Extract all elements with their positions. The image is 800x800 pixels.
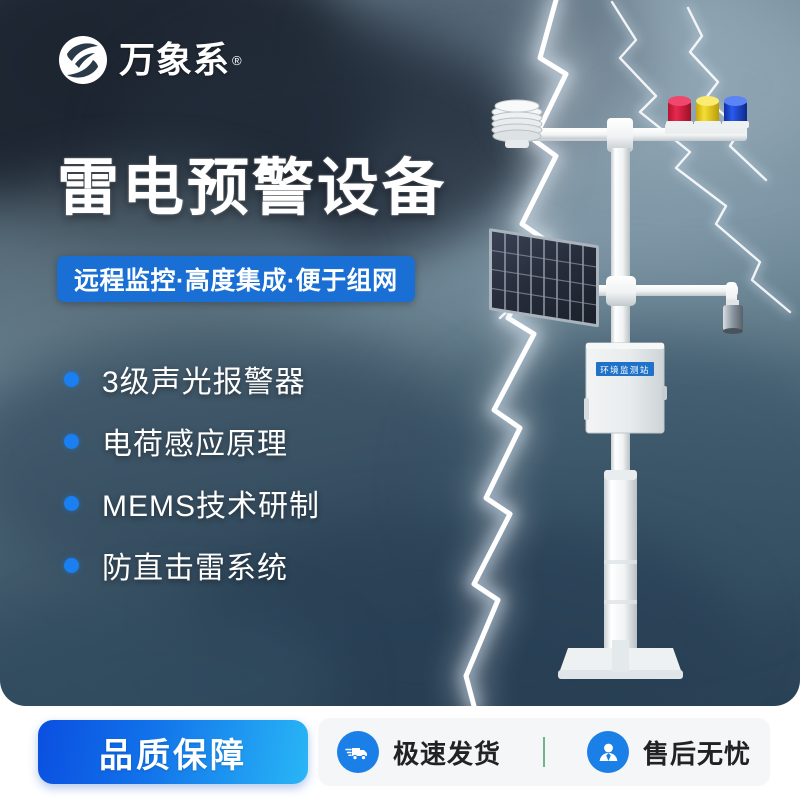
brand-name: 万象系 (119, 42, 230, 78)
storm-cloud (330, 0, 660, 150)
feature-label: MEMS技术研制 (102, 481, 320, 525)
storm-cloud (0, 600, 340, 706)
quality-badge-label: 品质保障 (99, 728, 247, 777)
yellow-alarm-beacon (694, 96, 721, 128)
solar-panel-icon (489, 228, 599, 327)
enclosure-label: 环境监测站 (600, 365, 650, 376)
feature-item: 3级声光报警器 (64, 348, 320, 410)
feature-label: 3级声光报警器 (102, 357, 306, 401)
service-label: 极速发货 (393, 734, 501, 771)
blue-alarm-beacon (722, 96, 749, 128)
bullet-dot-icon (64, 496, 79, 511)
quality-badge: 品质保障 (38, 720, 308, 784)
bullet-dot-icon (64, 434, 79, 449)
alarm-beacon-stack (666, 96, 749, 128)
service-item-shipping: 极速发货 (337, 731, 501, 773)
bottom-trust-bar: 品质保障 极速发货 (0, 706, 800, 800)
service-item-support: 售后无忧 (587, 731, 751, 773)
brand-logo[interactable]: 万象系 ® (57, 34, 242, 86)
subtitle-banner: 远程监控·高度集成·便于组网 (57, 256, 415, 302)
red-alarm-beacon (666, 96, 693, 128)
base-plate (558, 640, 683, 679)
feature-label: 电荷感应原理 (102, 419, 288, 463)
feature-list: 3级声光报警器 电荷感应原理 MEMS技术研制 防直击雷系统 (64, 348, 320, 596)
feature-label: 防直击雷系统 (102, 543, 288, 587)
storm-cloud (520, 0, 800, 170)
controller-enclosure: 环境监测站 (584, 343, 667, 433)
feature-item: 电荷感应原理 (64, 410, 320, 472)
leaf-circle-logo-icon (57, 34, 109, 86)
service-divider (543, 737, 545, 767)
sensor-probe-icon (723, 282, 743, 334)
radiation-shield-icon (492, 100, 542, 148)
promo-page: 环境监测站 (0, 0, 800, 800)
service-list: 极速发货 售后无忧 (318, 718, 770, 786)
registered-mark: ® (232, 53, 242, 68)
service-label: 售后无忧 (643, 734, 751, 771)
page-title: 雷电预警设备 (57, 158, 447, 220)
bullet-dot-icon (64, 372, 79, 387)
feature-item: MEMS技术研制 (64, 472, 320, 534)
customer-support-icon (587, 731, 629, 773)
delivery-truck-icon (337, 731, 379, 773)
feature-item: 防直击雷系统 (64, 534, 320, 596)
storm-cloud (430, 330, 800, 630)
hero-banner: 环境监测站 (0, 0, 800, 706)
bullet-dot-icon (64, 558, 79, 573)
